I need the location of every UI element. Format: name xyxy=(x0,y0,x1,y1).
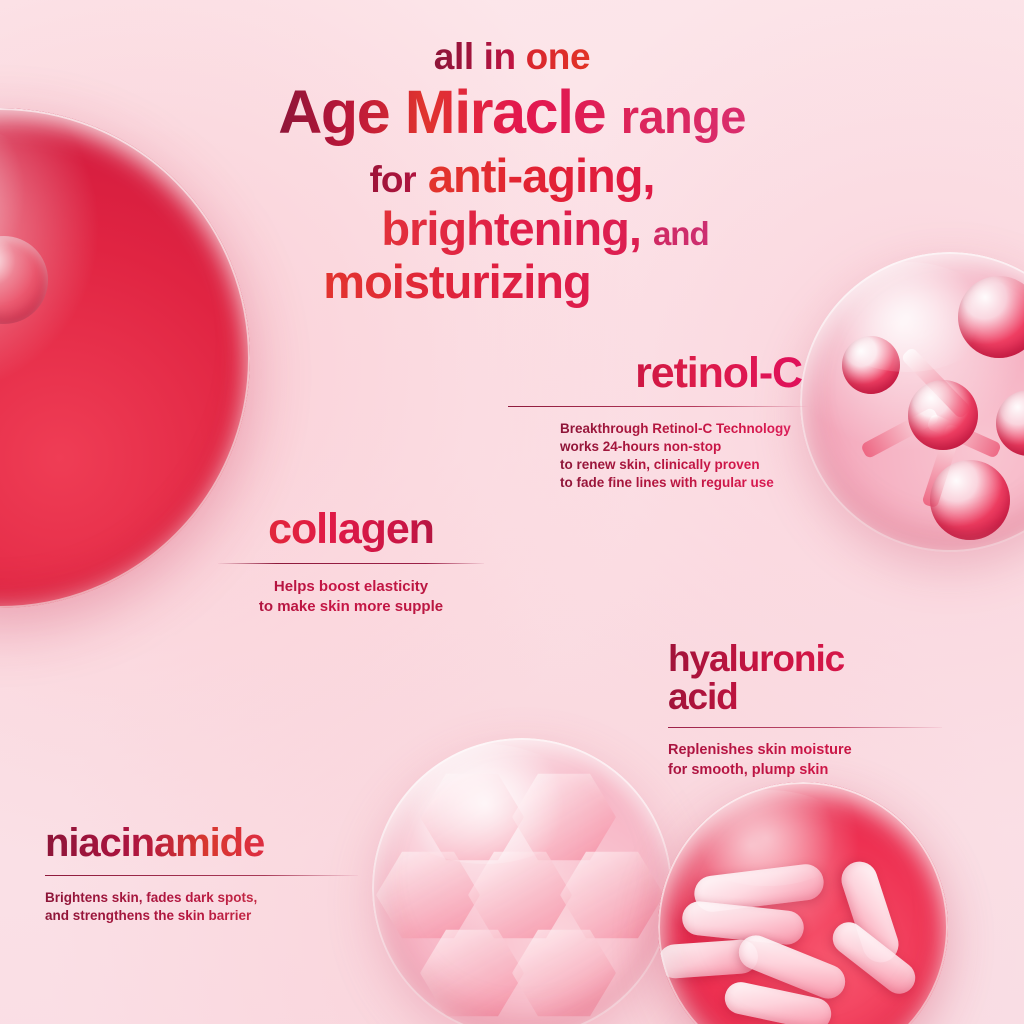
capsule xyxy=(681,900,806,947)
hexagon xyxy=(512,928,616,1018)
ingredient-block-hyaluronic-acid: hyaluronic acid Replenishes skin moistur… xyxy=(668,640,942,780)
headline-line-5: moisturizing xyxy=(0,258,1024,305)
headline: all in one Age Miracle range for anti-ag… xyxy=(0,38,1024,305)
ingredient-divider-collagen xyxy=(218,563,484,564)
headline-all-in: all in xyxy=(434,36,516,77)
ingredient-body-collagen: Helps boost elasticity to make skin more… xyxy=(218,577,484,617)
headline-age-miracle: Age Miracle xyxy=(278,78,605,146)
ingredient-title-collagen: collagen xyxy=(218,508,484,552)
ingredient-title-retinol-c: retinol-C xyxy=(508,352,808,396)
headline-line-1: all in one xyxy=(0,38,1024,75)
headline-one: one xyxy=(526,36,591,77)
headline-brightening: brightening, xyxy=(381,202,641,255)
ingredient-block-retinol-c: retinol-C Breakthrough Retinol-C Technol… xyxy=(508,352,808,492)
molecule-atom xyxy=(930,460,1010,540)
ingredient-block-collagen: collagen Helps boost elasticity to make … xyxy=(218,508,484,617)
capsule-sphere-image xyxy=(658,782,948,1024)
ingredient-divider-retinol-c xyxy=(508,406,808,407)
molecule-bond xyxy=(926,413,1002,459)
hexagon xyxy=(560,850,664,940)
capsule xyxy=(734,930,851,1003)
capsule xyxy=(837,857,903,967)
ingredient-body-niacinamide: Brightens skin, fades dark spots, and st… xyxy=(45,889,358,925)
headline-range: range xyxy=(621,90,746,143)
capsule xyxy=(692,862,825,914)
infographic-poster: all in one Age Miracle range for anti-ag… xyxy=(0,0,1024,1024)
ingredient-title-niacinamide: niacinamide xyxy=(45,823,358,864)
molecule-bond xyxy=(860,407,940,460)
sphere-rim xyxy=(372,738,672,1024)
ingredient-body-hyaluronic-acid: Replenishes skin moisture for smooth, pl… xyxy=(668,741,942,780)
hexagon xyxy=(376,850,480,940)
headline-for: for xyxy=(370,159,416,200)
hexagon xyxy=(512,772,616,862)
hexagon xyxy=(420,772,524,862)
molecule-atom xyxy=(996,390,1024,456)
hexagon-pattern xyxy=(372,738,672,1024)
headline-and: and xyxy=(653,215,709,252)
sphere-highlight xyxy=(682,790,852,886)
headline-anti-aging: anti-aging, xyxy=(428,149,655,202)
molecule-atom-center xyxy=(908,380,978,450)
molecule-bond xyxy=(900,347,971,420)
molecule-bond xyxy=(921,424,962,509)
molecule-atom xyxy=(842,336,900,394)
headline-line-2: Age Miracle range xyxy=(0,82,1024,143)
hexagon xyxy=(468,850,572,940)
ingredient-divider-hyaluronic-acid xyxy=(668,727,942,728)
ingredient-divider-niacinamide xyxy=(45,875,358,876)
ingredient-body-retinol-c: Breakthrough Retinol-C Technology works … xyxy=(560,420,808,492)
ingredient-block-niacinamide: niacinamide Brightens skin, fades dark s… xyxy=(45,823,358,925)
headline-line-3: for anti-aging, xyxy=(0,152,1024,199)
capsule xyxy=(826,916,921,1000)
headline-moisturizing: moisturizing xyxy=(323,255,590,308)
headline-line-4: brightening, and xyxy=(0,205,1024,252)
capsule xyxy=(722,979,834,1024)
ingredient-title-hyaluronic-acid: hyaluronic acid xyxy=(668,640,942,715)
sphere-rim xyxy=(658,782,948,1024)
capsule xyxy=(658,939,759,980)
hexagon xyxy=(420,928,524,1018)
hexagon-sphere-image xyxy=(372,738,672,1024)
